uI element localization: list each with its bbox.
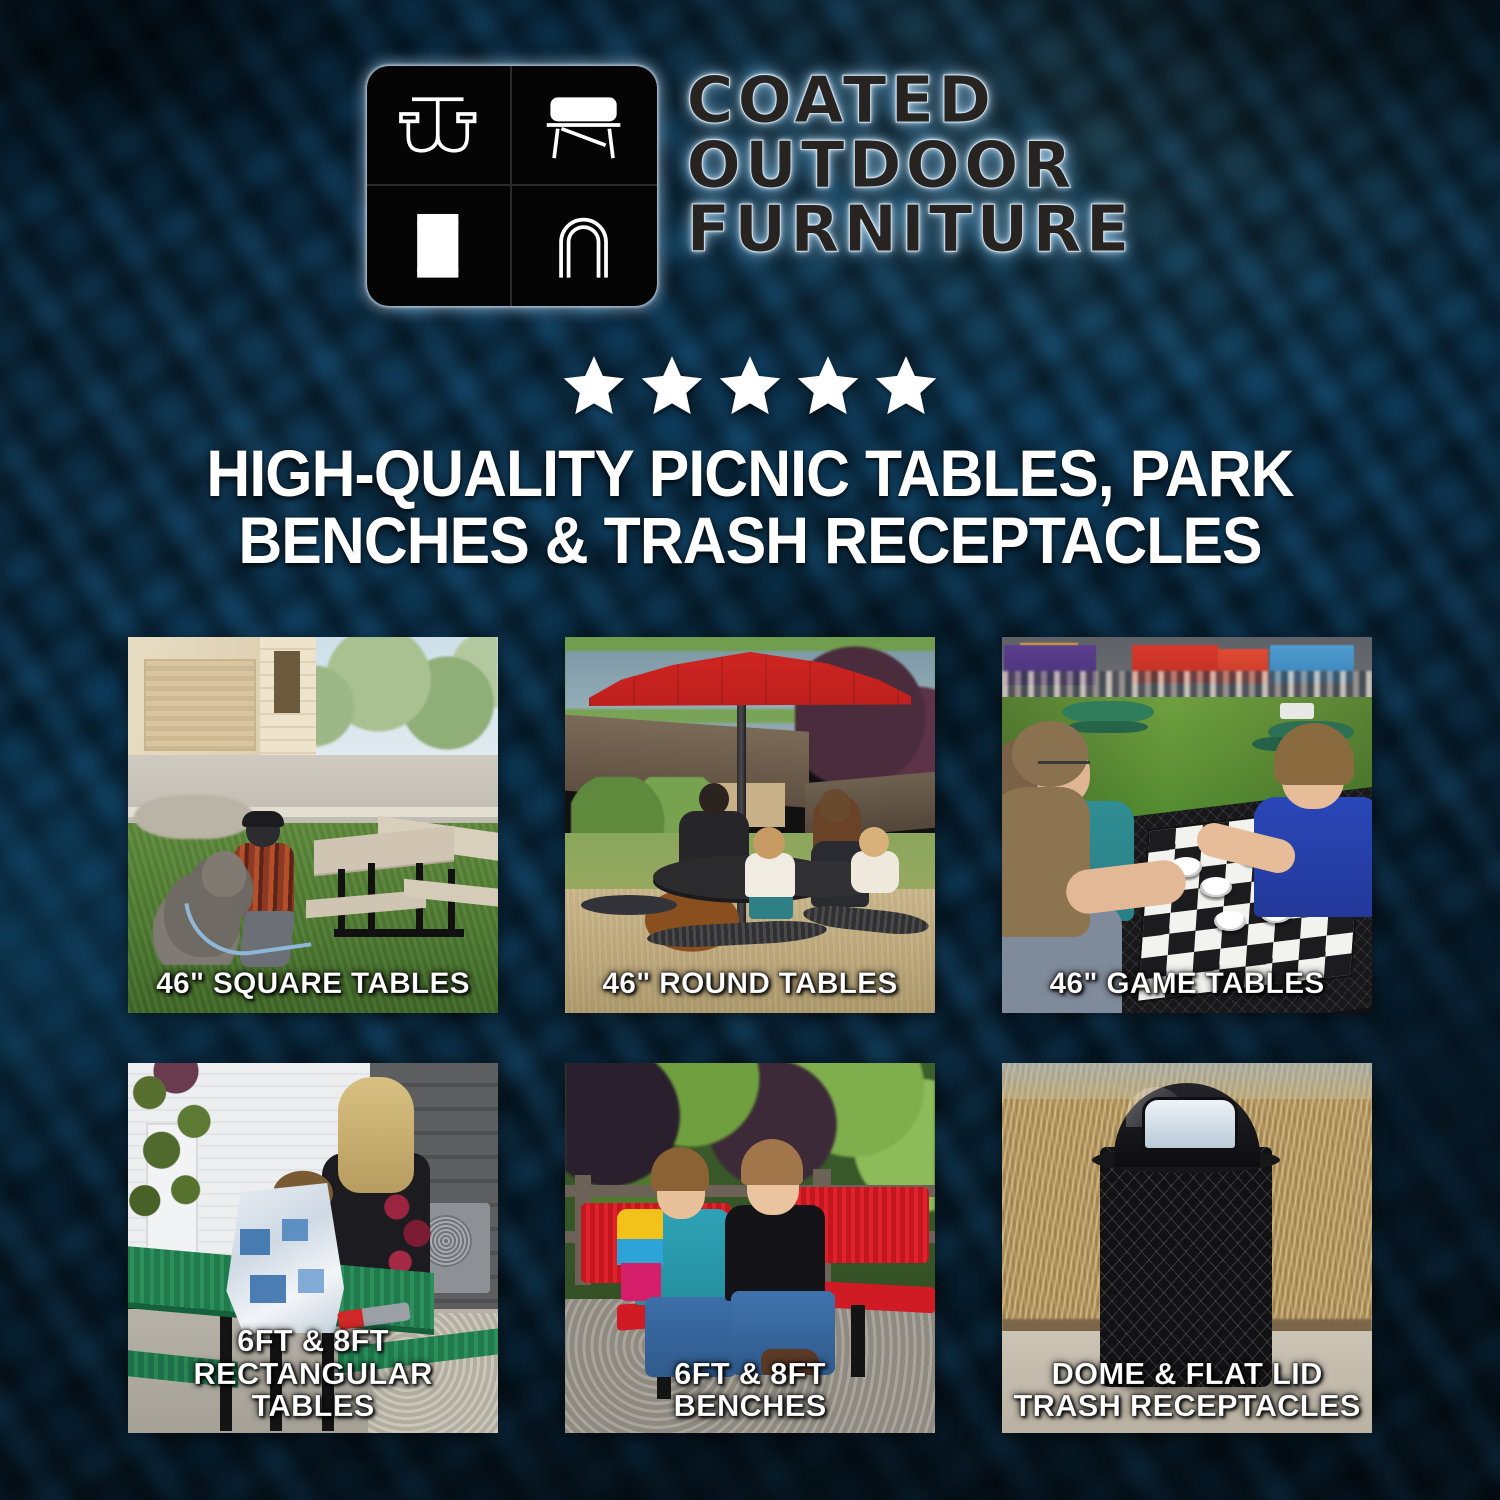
product-tile-rectangular-tables[interactable]: 6FT & 8FT RECTANGULAR TABLES [128,1063,498,1433]
product-photo [128,637,498,1013]
brand-logo: COATED OUTDOOR FURNITURE [0,66,1500,306]
caption-line-1: 46" GAME TABLES [1049,967,1324,1000]
caption-line-2: TRASH RECEPTACLES [1010,1390,1364,1423]
star-icon [872,352,940,418]
star-icon [794,352,862,418]
product-photo [565,637,935,1013]
page-title: HIGH-QUALITY PICNIC TABLES, PARK BENCHES… [115,440,1385,575]
brand-name-line-2: OUTDOOR [687,135,1134,198]
headline-line-1: HIGH-QUALITY PICNIC TABLES, PARK [206,436,1293,510]
caption-line-1: 6FT & 8FT [674,1356,826,1391]
caption-line-1: 46" ROUND TABLES [602,967,897,1000]
product-tile-trash-receptacles[interactable]: DOME & FLAT LID TRASH RECEPTACLES [1002,1063,1372,1433]
caption-line-1: 6FT & 8FT [237,1323,389,1358]
product-caption: 6FT & 8FT RECTANGULAR TABLES [128,1325,498,1423]
product-caption: DOME & FLAT LID TRASH RECEPTACLES [1002,1358,1372,1423]
product-tile-game-tables[interactable]: 46" GAME TABLES [1002,637,1372,1013]
square-picnic-table-icon [367,66,512,186]
star-icon [638,352,706,418]
product-tile-round-tables[interactable]: 46" ROUND TABLES [565,637,935,1013]
star-icon [560,352,628,418]
star-icon [716,352,784,418]
arch-bench-icon [512,186,657,306]
product-tile-square-tables[interactable]: 46" SQUARE TABLES [128,637,498,1013]
product-grid: 46" SQUARE TABLES [128,637,1373,1433]
product-caption: 6FT & 8FT BENCHES [565,1358,935,1423]
logo-mark-icon [367,66,657,306]
caption-line-1: DOME & FLAT LID [1051,1356,1322,1391]
product-caption: 46" ROUND TABLES [565,968,935,1000]
product-caption: 46" GAME TABLES [1002,968,1372,1000]
star-rating [0,352,1500,418]
caption-line-1: 46" SQUARE TABLES [156,967,470,1000]
caption-line-2: BENCHES [573,1390,927,1423]
brand-name-line-1: COATED [687,70,1134,133]
caption-line-2: RECTANGULAR TABLES [136,1358,490,1423]
trash-receptacle-icon [367,186,512,306]
brand-name-line-3: FURNITURE [687,199,1134,262]
product-tile-benches[interactable]: 6FT & 8FT BENCHES [565,1063,935,1433]
product-caption: 46" SQUARE TABLES [128,968,498,1000]
headline-line-2: BENCHES & TRASH RECEPTACLES [115,507,1385,574]
product-photo [1002,637,1372,1013]
bench-icon [512,66,657,186]
